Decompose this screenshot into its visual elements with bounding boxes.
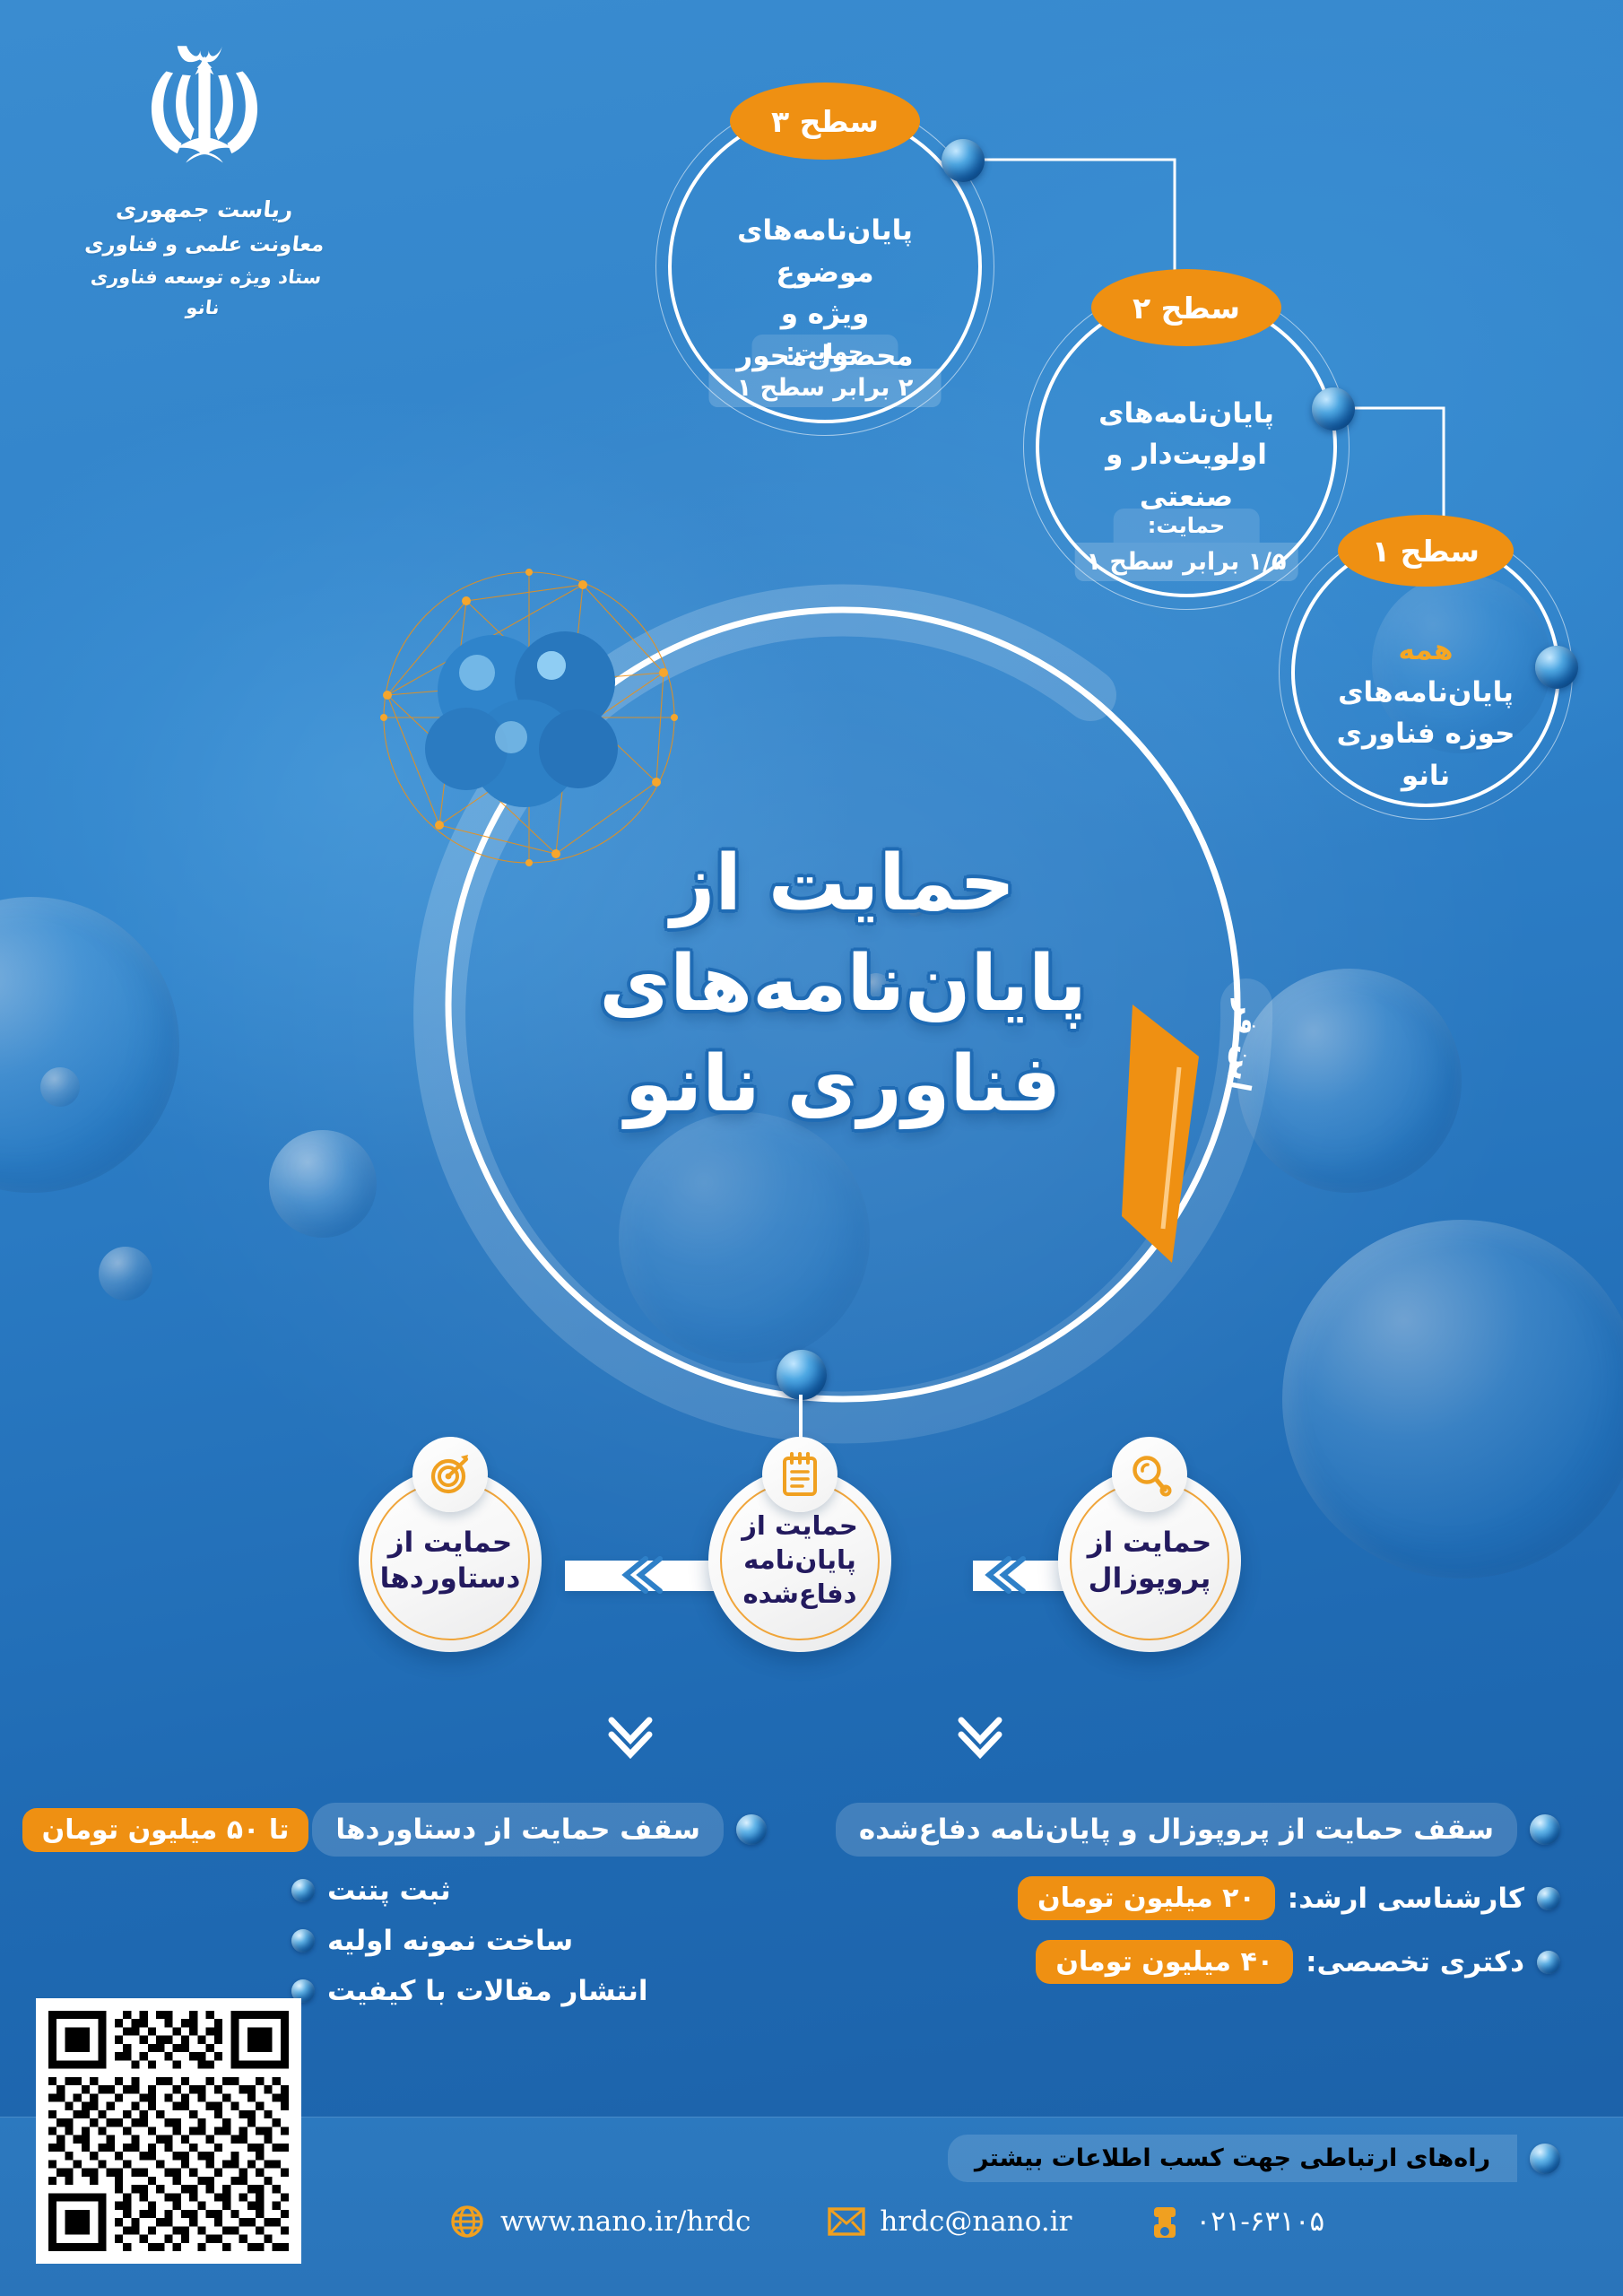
masters-label: کارشناسی ارشد:	[1288, 1883, 1524, 1915]
level-2-node	[1312, 387, 1355, 430]
chevron-left-icon-left-bar	[610, 1548, 664, 1602]
title-line-1: حمایت از	[502, 834, 1184, 935]
phd-label: دکتری تخصصی:	[1306, 1946, 1524, 1979]
level-3-support: حمایت: ۲ برابر سطح ۱	[709, 335, 942, 407]
globe-icon	[448, 2203, 486, 2240]
title-line-3: فناوری نانو	[502, 1035, 1184, 1135]
step-support-proposal[interactable]: حمایت از پروپوزال	[1058, 1469, 1241, 1652]
website-text: www.nano.ir/hrdc	[500, 2205, 751, 2238]
title-line-2: پایان‌نامه‌های	[502, 935, 1184, 1035]
support-ceiling-achievements-block: سقف حمایت از دستاوردها تا ۵۰ میلیون توما…	[85, 1803, 767, 2007]
step-achievements-line1: حمایت از	[388, 1526, 513, 1559]
level-1-badge: سطح ۱	[1338, 515, 1514, 587]
level-2-title-line1: پایان‌نامه‌های	[1098, 397, 1274, 430]
step-thesis-line2: پایان‌نامه	[743, 1544, 856, 1575]
support-left-heading-value: تا ۵۰ میلیون تومان	[22, 1808, 309, 1852]
step-icon-badge	[412, 1437, 488, 1512]
step-icon-badge	[1112, 1437, 1187, 1512]
chevron-left-icon-right-bar	[973, 1548, 1027, 1602]
phone-text: ۰۲۱-۶۳۱۰۵	[1195, 2205, 1324, 2238]
level-1-highlight: همه	[1398, 634, 1453, 666]
step-support-achievements[interactable]: حمایت از دستاوردها	[359, 1469, 542, 1652]
bullet-pearl-icon	[1537, 1951, 1560, 1974]
target-dart-icon	[427, 1451, 473, 1498]
poster: ریاست جمهوری معاونت علمی و فناوری ستاد و…	[0, 0, 1623, 2296]
step-proposal-line2: پروپوزال	[1089, 1562, 1211, 1595]
level-1-circle: سطح ۱ همه پایان‌نامه‌های حوزه فناوری نان…	[1291, 538, 1560, 807]
bullet-pearl-icon	[291, 1929, 315, 1952]
bullet-pearl-icon	[1537, 1887, 1560, 1910]
support-ceiling-proposal-block: سقف حمایت از پروپوزال و پایان‌نامه دفاع‌…	[879, 1803, 1560, 1984]
contact-website[interactable]: www.nano.ir/hrdc	[448, 2203, 751, 2240]
contact-list: www.nano.ir/hrdc hrdc@nano.ir ۰۲۱-۶۳۱۰۵	[448, 2202, 1324, 2241]
level-3-node	[942, 139, 985, 182]
level-1-title-line1: پایان‌نامه‌های	[1338, 676, 1514, 709]
level-1-title-line2: حوزه فناوری نانو	[1337, 717, 1515, 792]
chevron-down-icon-right	[950, 1704, 1010, 1763]
contact-heading: راه‌های ارتباطی جهت کسب اطلاعات بیشتر	[948, 2135, 1517, 2182]
bullet-pearl-icon	[291, 1879, 315, 1902]
step-achievements-line2: دستاوردها	[380, 1562, 521, 1595]
bullet-pearl-icon	[1530, 2144, 1560, 2174]
support-right-heading-row: سقف حمایت از پروپوزال و پایان‌نامه دفاع‌…	[879, 1803, 1560, 1857]
magnifier-icon	[1126, 1451, 1173, 1498]
contact-heading-row: راه‌های ارتباطی جهت کسب اطلاعات بیشتر	[948, 2135, 1560, 2182]
achievement-item-2: ساخت نمونه اولیه	[85, 1925, 767, 1957]
page-title: حمایت از پایان‌نامه‌های فناوری نانو	[502, 834, 1184, 1135]
bullet-pearl-icon	[736, 1814, 767, 1845]
main-circle-bottom-node	[777, 1350, 827, 1400]
support-right-row-masters: کارشناسی ارشد: ۲۰ میلیون تومان	[879, 1876, 1560, 1920]
level-3-badge: سطح ۳	[730, 83, 920, 160]
qr-code-icon	[48, 2011, 289, 2251]
support-right-heading: سقف حمایت از پروپوزال و پایان‌نامه دفاع‌…	[836, 1803, 1517, 1857]
level-1-node	[1535, 646, 1578, 689]
phd-value: ۴۰ میلیون تومان	[1036, 1940, 1293, 1984]
level-1-body: همه پایان‌نامه‌های حوزه فناوری نانو	[1291, 630, 1560, 796]
masters-value: ۲۰ میلیون تومان	[1018, 1876, 1275, 1920]
level-3-title-line1: پایان‌نامه‌های موضوع	[737, 214, 913, 289]
step-proposal-line1: حمایت از	[1088, 1526, 1212, 1559]
bullet-pearl-icon	[1530, 1814, 1560, 1845]
step-icon-badge	[762, 1437, 838, 1512]
achievement-label: ساخت نمونه اولیه	[327, 1925, 573, 1957]
level-2-support-caption: حمایت:	[1114, 509, 1259, 543]
level-3-support-caption: حمایت:	[752, 335, 898, 369]
support-right-row-phd: دکتری تخصصی: ۴۰ میلیون تومان	[879, 1940, 1560, 1984]
notepad-icon	[777, 1450, 822, 1499]
support-left-heading-row: سقف حمایت از دستاوردها تا ۵۰ میلیون توما…	[85, 1803, 767, 1857]
achievement-label: ثبت پتنت	[327, 1874, 451, 1907]
level-2-body: پایان‌نامه‌های اولویت‌دار و صنعتی	[1036, 393, 1337, 518]
contact-phone[interactable]: ۰۲۱-۶۳۱۰۵	[1149, 2202, 1324, 2241]
chevron-down-icon-left	[601, 1704, 660, 1763]
achievement-label: انتشار مقالات با کیفیت	[327, 1975, 647, 2007]
achievement-item-1: ثبت پتنت	[85, 1874, 767, 1907]
email-text: hrdc@nano.ir	[880, 2205, 1072, 2238]
level-2-title-line2: اولویت‌دار و صنعتی	[1106, 439, 1267, 513]
step-thesis-line3: دفاع‌شده	[743, 1578, 857, 1609]
level-3-circle: سطح ۳ پایان‌نامه‌های موضوع ویژه و محصول‌…	[668, 109, 982, 423]
phone-icon	[1149, 2202, 1181, 2241]
envelope-icon	[828, 2206, 865, 2237]
step-support-defended-thesis[interactable]: حمایت از پایان‌نامه دفاع‌شده	[708, 1469, 891, 1652]
qr-code[interactable]	[36, 1998, 301, 2264]
contact-email[interactable]: hrdc@nano.ir	[828, 2205, 1072, 2238]
step-thesis-line1: حمایت از	[742, 1510, 858, 1541]
level-2-badge: سطح ۲	[1091, 269, 1281, 346]
support-left-heading: سقف حمایت از دستاوردها	[312, 1803, 724, 1857]
level-3-support-value: ۲ برابر سطح ۱	[709, 369, 942, 407]
